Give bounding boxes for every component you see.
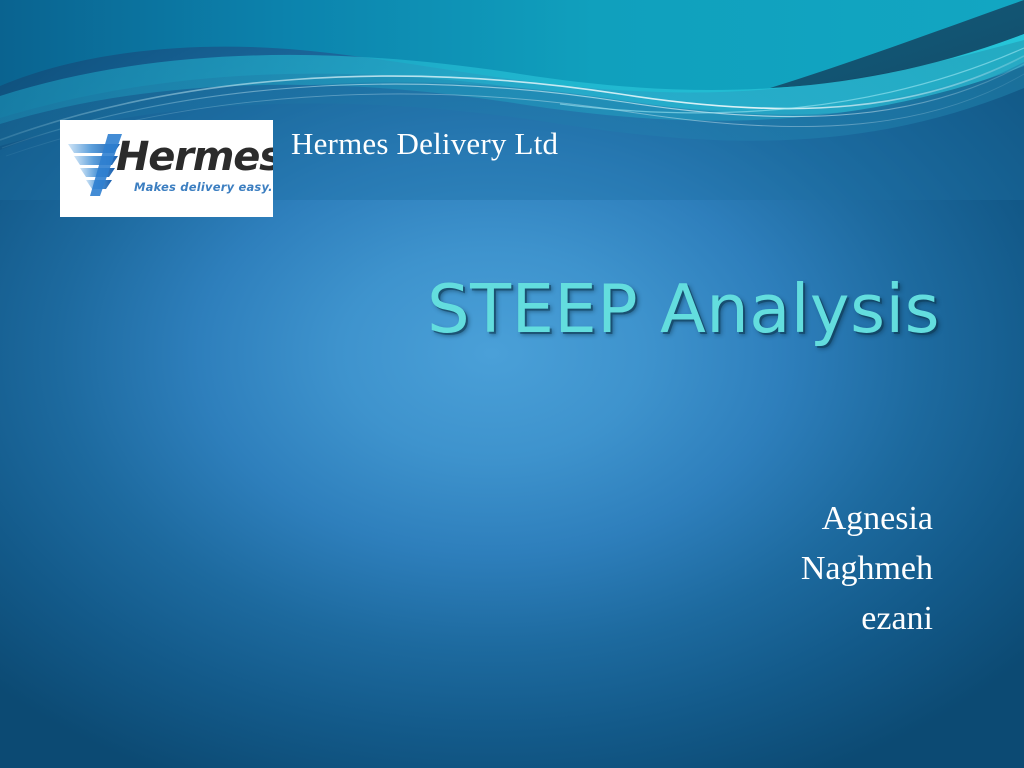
hermes-wordmark: Hermes — [116, 137, 273, 177]
company-name-text: Hermes Delivery Ltd — [291, 126, 558, 162]
wave-teal-upper — [0, 0, 1024, 92]
hermes-wing-bars — [68, 134, 122, 196]
wave-hairline-4 — [560, 48, 1024, 113]
author-line-3: ezani — [520, 594, 933, 644]
author-line-1: Agnesia — [520, 494, 933, 544]
wave-cyan-ribbon — [0, 34, 1024, 124]
hermes-tagline: Makes delivery easy. — [134, 180, 273, 194]
author-list: Agnesia Naghmeh ezani — [520, 494, 933, 644]
author-line-2: Naghmeh — [520, 544, 933, 594]
slide-title: STEEP Analysis — [0, 274, 940, 344]
wave-navy-wedge — [770, 0, 1024, 88]
presentation-slide: Hermes Makes delivery easy. Hermes Deliv… — [0, 0, 1024, 768]
hermes-logo: Hermes Makes delivery easy. — [60, 120, 273, 217]
